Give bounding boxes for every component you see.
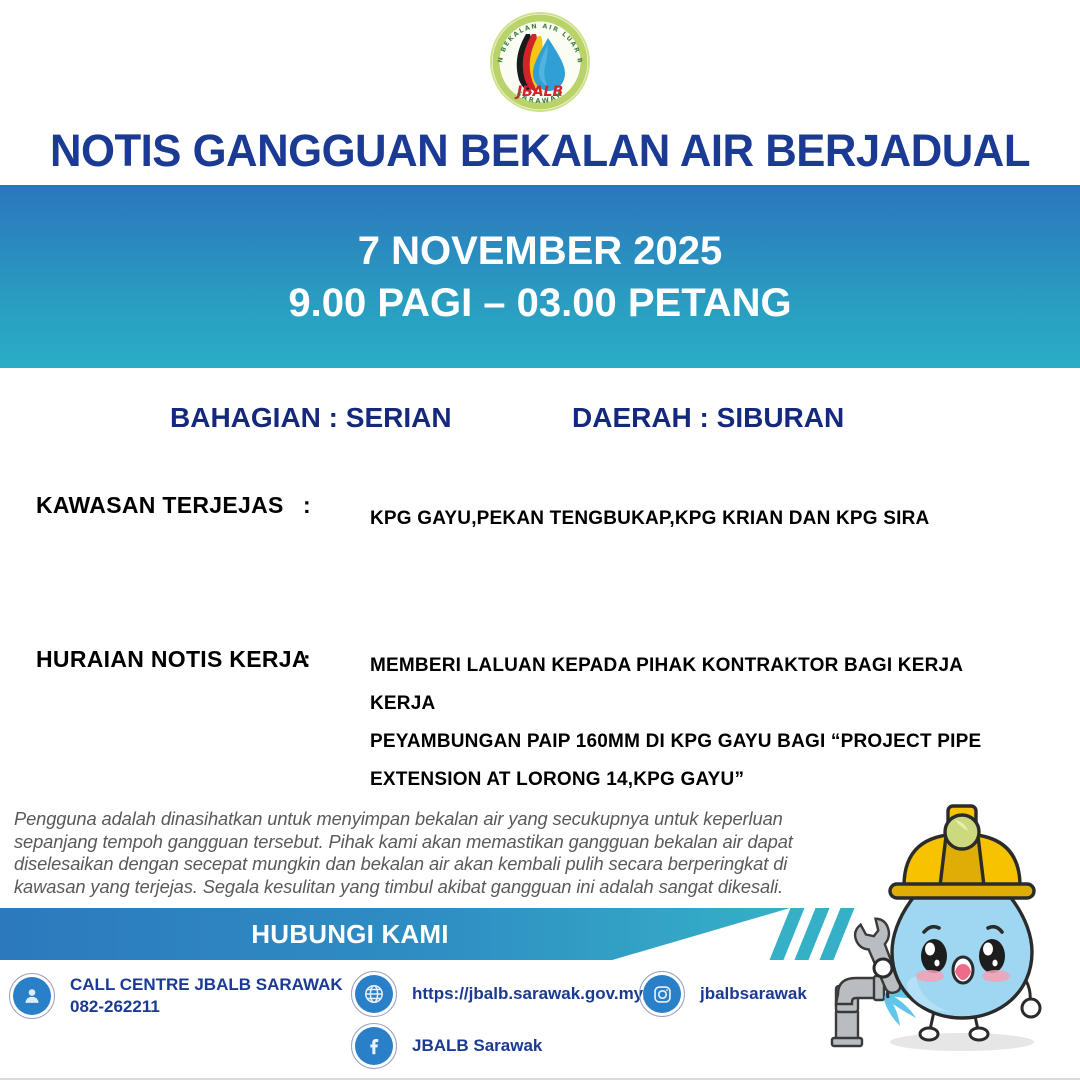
facebook-name[interactable]: JBALB Sarawak: [412, 1035, 542, 1057]
call-centre-text: CALL CENTRE JBALB SARAWAK 082-262211: [70, 974, 343, 1018]
date-time-band: 7 NOVEMBER 2025 9.00 PAGI – 03.00 PETANG: [0, 185, 1080, 368]
contact-facebook[interactable]: JBALB Sarawak: [350, 1022, 542, 1070]
poster: JBALB JABATAN BEKALAN AIR LUAR BANDAR SA…: [0, 0, 1080, 1080]
bahagian-label: BAHAGIAN : SERIAN: [170, 402, 452, 434]
work-description-line: PEYAMBUNGAN PAIP 160MM DI KPG GAYU BAGI …: [370, 723, 1010, 761]
division-row: BAHAGIAN : SERIAN DAERAH : SIBURAN: [0, 402, 1080, 442]
work-description-value: MEMBERI LALUAN KEPADA PIHAK KONTRAKTOR B…: [370, 647, 1010, 799]
daerah-label: DAERAH : SIBURAN: [572, 402, 844, 434]
call-centre-name: CALL CENTRE JBALB SARAWAK: [70, 974, 343, 996]
work-description-colon: :: [303, 646, 311, 673]
contact-bar-container: HUBUNGI KAMI: [0, 908, 830, 960]
outage-time: 9.00 PAGI – 03.00 PETANG: [288, 281, 791, 325]
contact-bar-title: HUBUNGI KAMI: [0, 908, 700, 960]
work-description-label: HURAIAN NOTIS KERJA: [36, 646, 309, 673]
instagram-handle[interactable]: jbalbsarawak: [700, 983, 807, 1005]
advisory-note: Pengguna adalah dinasihatkan untuk menyi…: [14, 808, 804, 898]
facebook-icon: [350, 1022, 398, 1070]
logo-container: JBALB JABATAN BEKALAN AIR LUAR BANDAR SA…: [0, 8, 1080, 116]
globe-icon: [350, 970, 398, 1018]
jbalb-logo-icon: JBALB JABATAN BEKALAN AIR LUAR BANDAR SA…: [488, 10, 592, 114]
instagram-icon: [638, 970, 686, 1018]
call-centre-number: 082-262211: [70, 996, 343, 1018]
affected-area-label: KAWASAN TERJEJAS: [36, 492, 284, 519]
contact-instagram[interactable]: jbalbsarawak: [638, 970, 807, 1018]
work-description-line: MEMBERI LALUAN KEPADA PIHAK KONTRAKTOR B…: [370, 647, 1010, 723]
website-url[interactable]: https://jbalb.sarawak.gov.my/: [412, 983, 648, 1005]
contact-call-centre[interactable]: CALL CENTRE JBALB SARAWAK 082-262211: [8, 972, 343, 1020]
affected-area-colon: :: [303, 492, 311, 519]
contact-website[interactable]: https://jbalb.sarawak.gov.my/: [350, 970, 648, 1018]
affected-area-value: KPG GAYU,PEKAN TENGBUKAP,KPG KRIAN DAN K…: [370, 500, 929, 538]
outage-date: 7 NOVEMBER 2025: [358, 229, 723, 273]
person-icon: [8, 972, 56, 1020]
water-droplet-mascot-icon: [812, 780, 1080, 1070]
page-title: NOTIS GANGGUAN BEKALAN AIR BERJADUAL: [16, 125, 1064, 177]
